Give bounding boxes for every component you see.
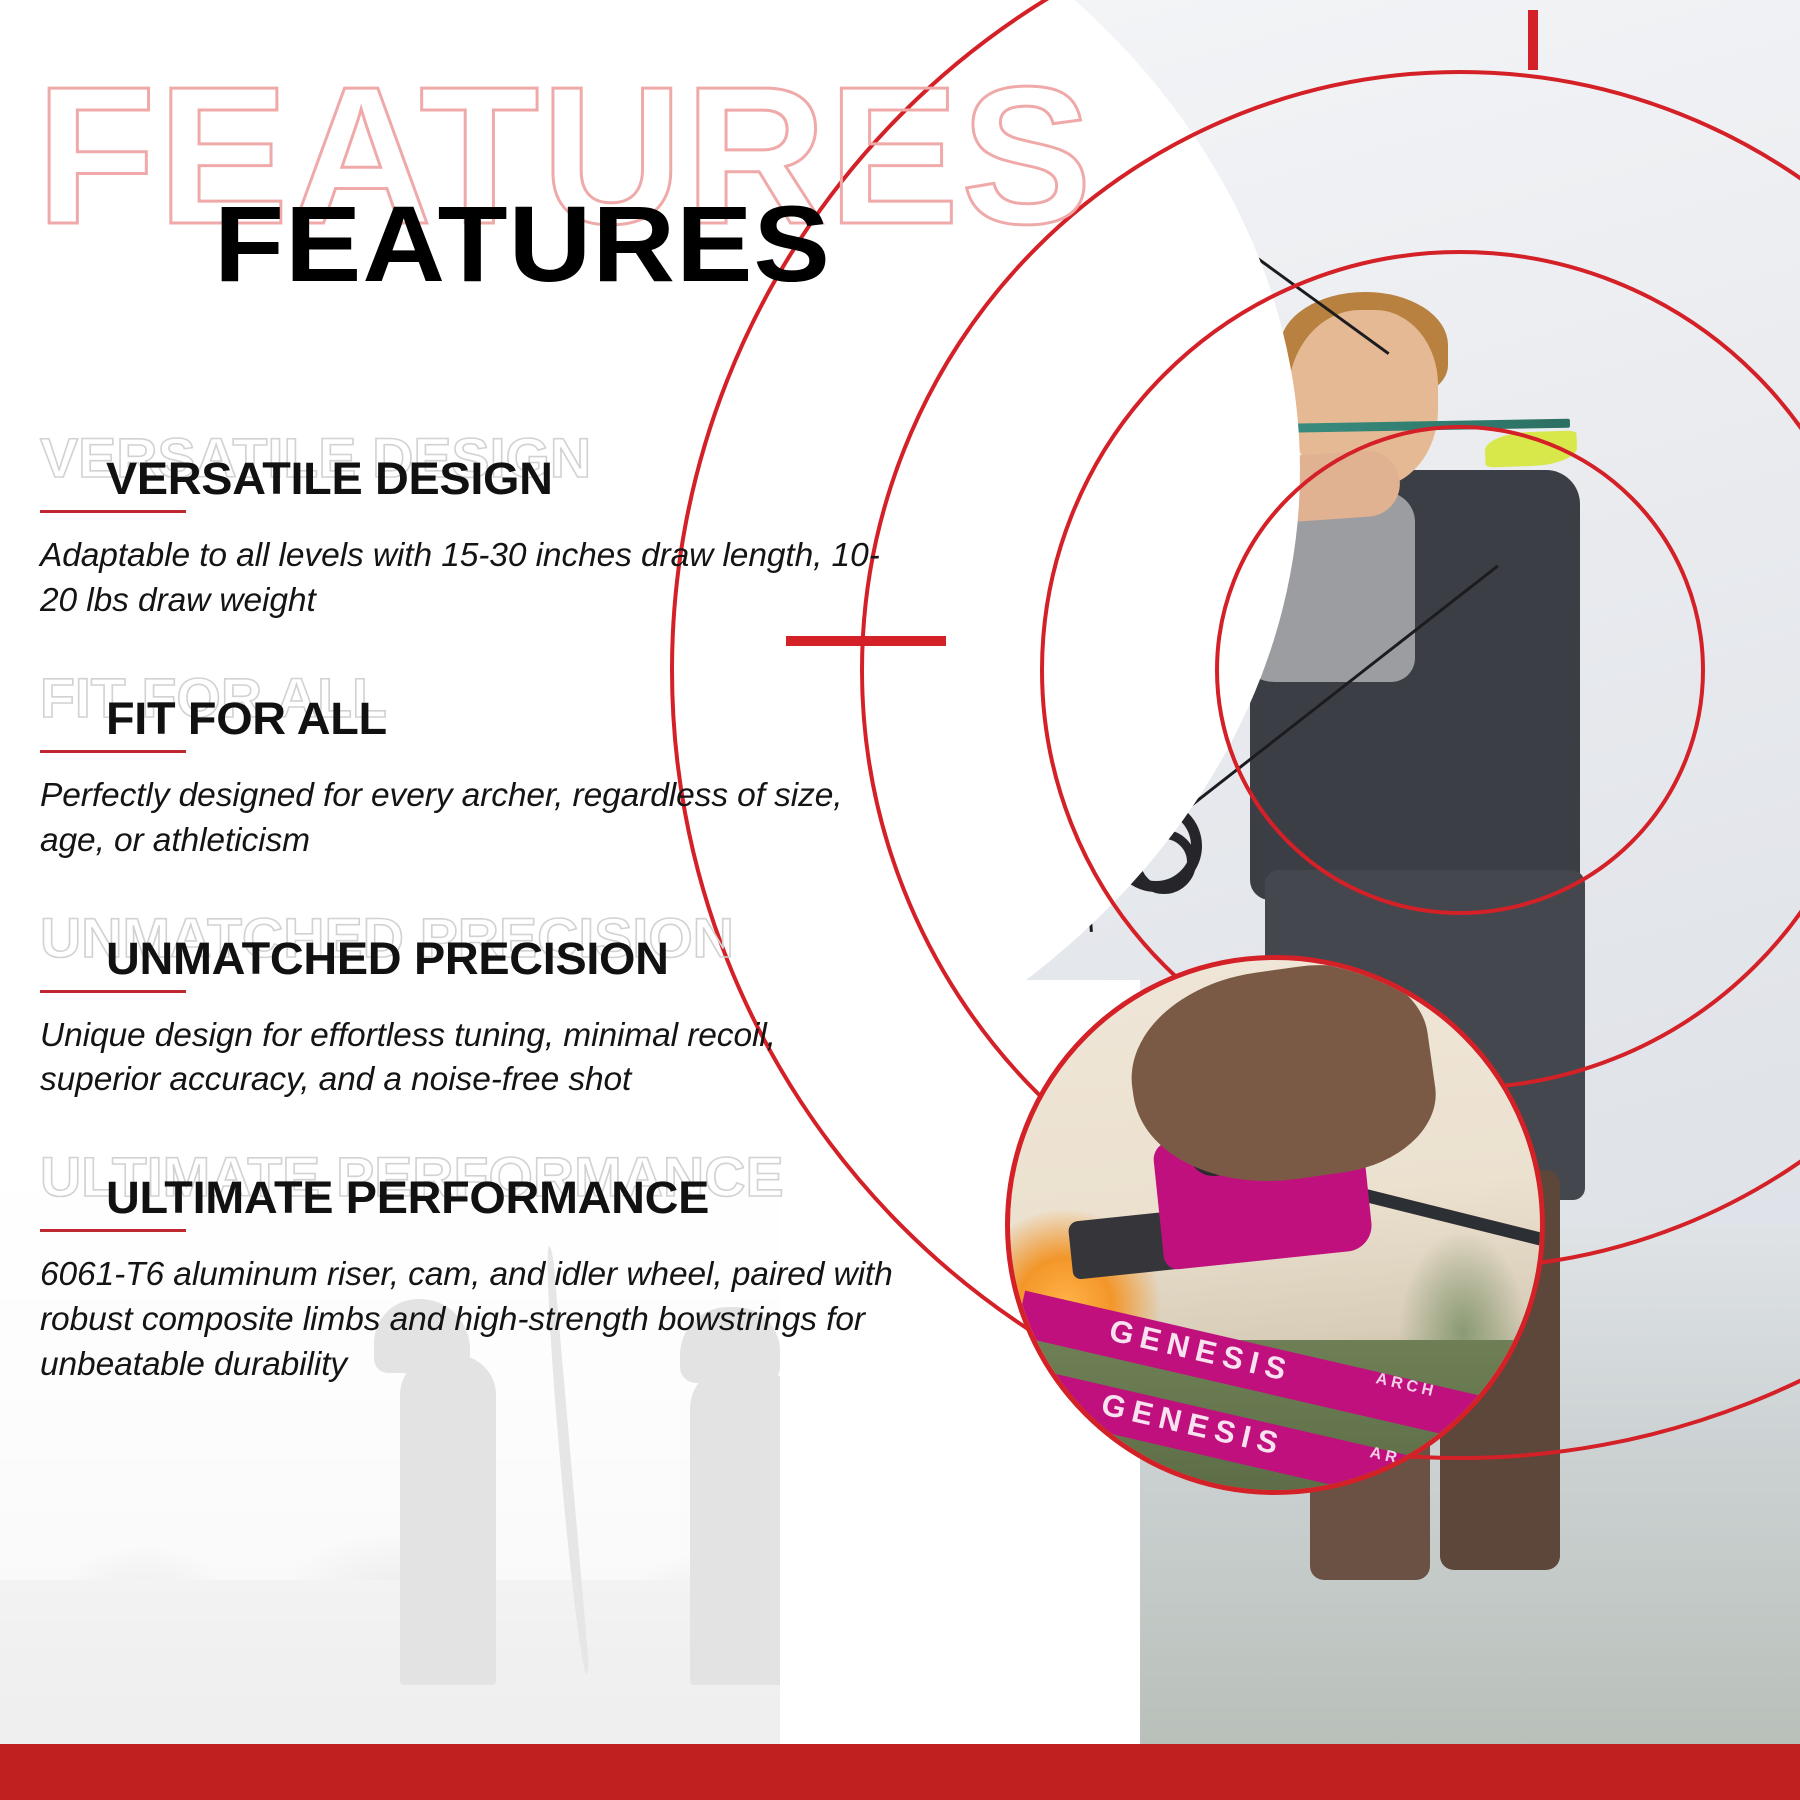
poster-canvas: FEATURES FEATURES VERSATILE DESIGN VERSA… — [0, 0, 1800, 1800]
feature-heading: UNMATCHED PRECISION — [106, 936, 669, 981]
feature-heading-wrap: VERSATILE DESIGN VERSATILE DESIGN — [40, 430, 920, 510]
feature-description: 6061-T6 aluminum riser, cam, and idler w… — [40, 1253, 900, 1388]
feature-heading: ULTIMATE PERFORMANCE — [106, 1175, 709, 1220]
feature-underline — [40, 990, 186, 993]
feature-item: VERSATILE DESIGN VERSATILE DESIGN Adapta… — [0, 430, 920, 624]
feature-heading: FIT FOR ALL — [106, 696, 387, 741]
features-list: VERSATILE DESIGN VERSATILE DESIGN Adapta… — [0, 430, 920, 1434]
page-title: FEATURES — [214, 190, 831, 298]
feature-underline — [40, 510, 186, 513]
feature-heading-wrap: FIT FOR ALL FIT FOR ALL — [40, 670, 920, 750]
page-title-block: FEATURES FEATURES — [0, 58, 1200, 308]
feature-description: Perfectly designed for every archer, reg… — [40, 774, 900, 864]
feature-heading: VERSATILE DESIGN — [106, 456, 553, 501]
crosshair-tick-top — [1528, 10, 1538, 70]
feature-description: Adaptable to all levels with 15-30 inche… — [40, 534, 900, 624]
feature-description: Unique design for effortless tuning, min… — [40, 1014, 900, 1104]
bottom-accent-bar — [0, 1744, 1800, 1800]
feature-heading-wrap: ULTIMATE PERFORMANCE ULTIMATE PERFORMANC… — [40, 1149, 920, 1229]
inset-detail-photo: GENESIS ARCH GENESIS AR — [1005, 955, 1545, 1495]
feature-item: ULTIMATE PERFORMANCE ULTIMATE PERFORMANC… — [0, 1149, 920, 1388]
feature-item: FIT FOR ALL FIT FOR ALL Perfectly design… — [0, 670, 920, 864]
feature-heading-wrap: UNMATCHED PRECISION UNMATCHED PRECISION — [40, 910, 920, 990]
feature-underline — [40, 1229, 186, 1232]
feature-underline — [40, 750, 186, 753]
feature-item: UNMATCHED PRECISION UNMATCHED PRECISION … — [0, 910, 920, 1104]
